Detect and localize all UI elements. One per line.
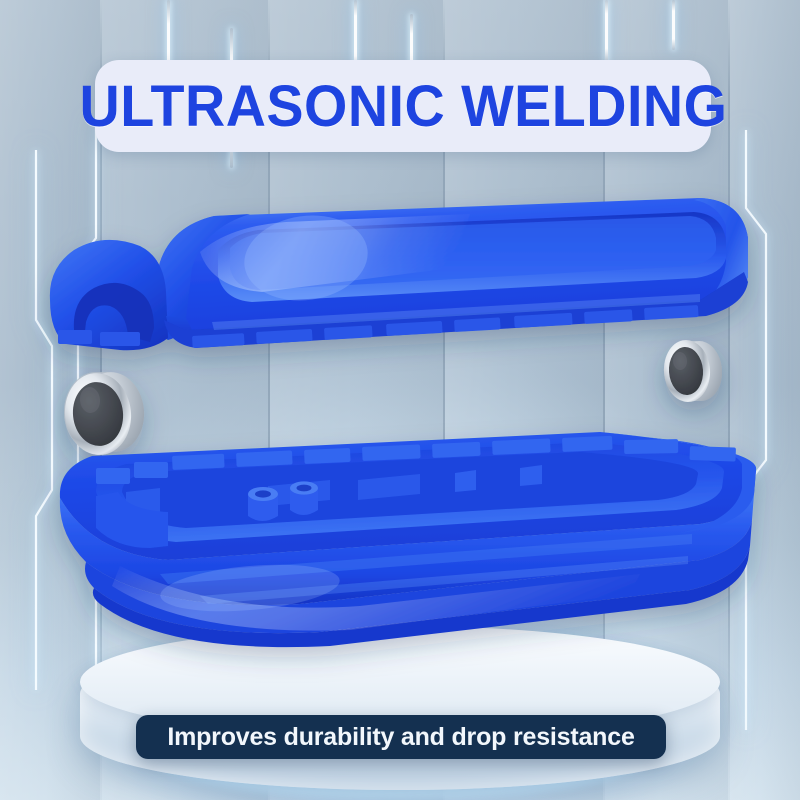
title-badge: ULTRASONIC WELDING: [95, 60, 711, 152]
infographic-canvas: ULTRASONIC WELDING Improves durability a…: [0, 0, 800, 800]
caption-text: Improves durability and drop resistance: [167, 723, 634, 752]
caption-badge: Improves durability and drop resistance: [136, 715, 666, 759]
page-title: ULTRASONIC WELDING: [79, 73, 727, 140]
light-streak-left-inner: [6, 150, 96, 690]
